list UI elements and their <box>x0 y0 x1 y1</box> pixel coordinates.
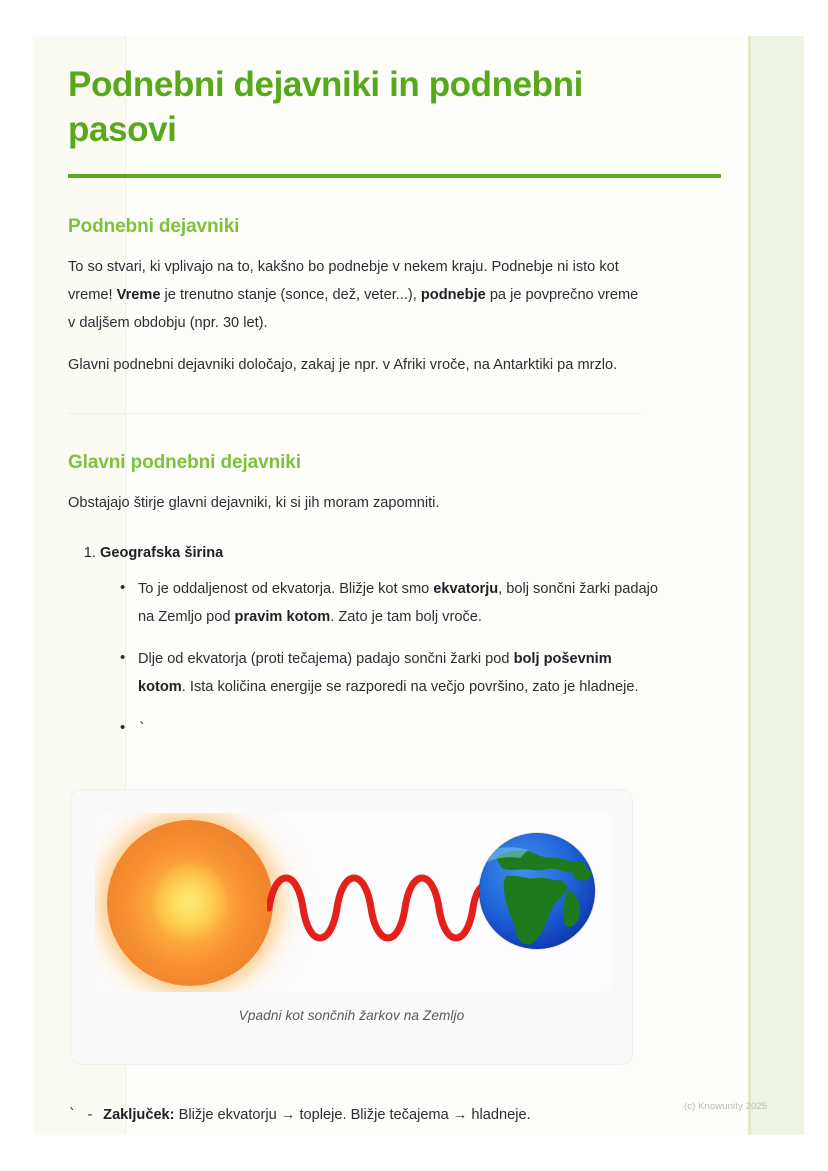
bold-pravim-kotom: pravim kotom <box>235 609 331 625</box>
bullet-text-e: . Zato je tam bolj vroče. <box>330 609 482 625</box>
bold-ekvatorju: ekvatorju <box>433 581 498 597</box>
page-canvas: Podnebni dejavniki in podnebni pasovi Po… <box>0 0 828 1171</box>
figure-card: Vpadni kot sončnih žarkov na Zemljo <box>70 789 633 1065</box>
paragraph-definition: To so stvari, ki vplivajo na to, kakšno … <box>68 253 646 337</box>
sun-illustration-icon <box>107 820 273 986</box>
conclusion-prefix: ` - <box>68 1106 103 1123</box>
bullet-text-a: ` <box>138 720 147 737</box>
figure-image-area <box>95 813 612 992</box>
sub-bullet-list: To je oddaljenost od ekvatorja. Bližje k… <box>100 575 648 743</box>
list-item-title: Geografska širina <box>100 545 223 561</box>
paragraph-examples: Glavni podnebni dejavniki določajo, zaka… <box>68 351 640 379</box>
bullet-text-a: Dlje od ekvatorja (proti tečajema) padaj… <box>138 651 514 667</box>
bullet-text-a: To je oddaljenost od ekvatorja. Bližje k… <box>138 581 433 597</box>
figure-caption: Vpadni kot sončnih žarkov na Zemljo <box>71 1008 632 1023</box>
main-numbered-list: Geografska širina To je oddaljenost od e… <box>68 539 648 743</box>
conclusion-text: Bližje ekvatorju → topleje. Bližje tečaj… <box>175 1107 531 1123</box>
list-item-geografska-sirina: Geografska širina To je oddaljenost od e… <box>100 539 648 743</box>
earth-globe-illustration-icon <box>476 830 598 952</box>
bold-vreme: Vreme <box>117 287 161 303</box>
conclusion-label: Zaključek: <box>103 1107 174 1123</box>
conclusion-line: ` - Zaključek: Bližje ekvatorju → toplej… <box>68 1103 688 1127</box>
title-underline-rule <box>68 174 721 178</box>
right-green-strip-edge <box>748 36 751 1135</box>
paragraph-list-intro: Obstajajo štirje glavni dejavniki, ki si… <box>68 489 646 517</box>
list-item: Dlje od ekvatorja (proti tečajema) padaj… <box>124 645 658 701</box>
paragraph-text-c: je trenutno stanje (sonce, dež, veter...… <box>160 287 420 303</box>
list-item: ` <box>124 715 658 743</box>
bold-podnebje: podnebje <box>421 287 486 303</box>
watermark-knowunity: (c) Knowunity 2025 <box>684 1101 767 1112</box>
page-title: Podnebni dejavniki in podnebni pasovi <box>68 62 588 152</box>
right-green-strip <box>748 36 804 1135</box>
list-item: To je oddaljenost od ekvatorja. Bližje k… <box>124 575 658 631</box>
bullet-text-c: . Ista količina energije se razporedi na… <box>182 679 639 695</box>
document-content: Podnebni dejavniki in podnebni pasovi Po… <box>68 62 648 757</box>
section-divider <box>68 413 641 414</box>
section-heading-podnebni-dejavniki: Podnebni dejavniki <box>68 214 648 239</box>
section-heading-glavni-podnebni-dejavniki: Glavni podnebni dejavniki <box>68 450 648 475</box>
